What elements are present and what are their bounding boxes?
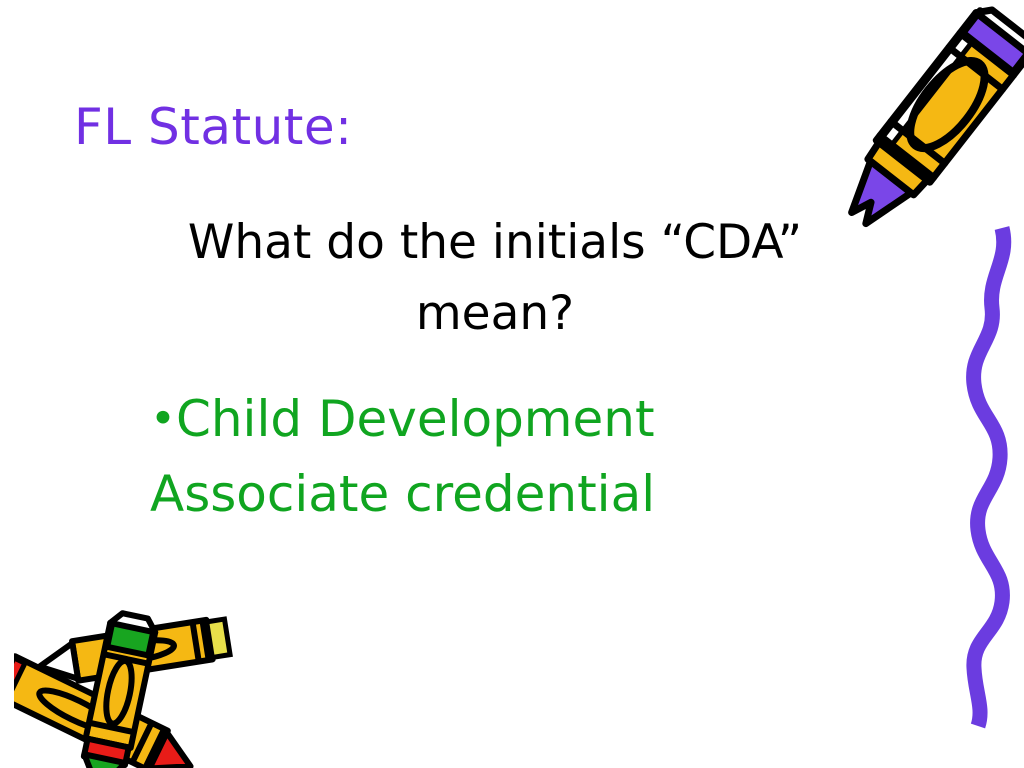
purple-squiggle-icon	[944, 222, 1024, 732]
answer-bullet-block: •Child Development Associate credential	[150, 382, 910, 532]
question-line-2: mean?	[70, 279, 920, 350]
crayon-trio-icon	[14, 596, 244, 768]
slide-canvas: FL Statute: What do the initials “CDA” m…	[0, 0, 1024, 768]
bullet-line-1: •Child Development	[150, 382, 910, 457]
bullet-line-1-label: Child Development	[176, 390, 655, 448]
page-title: FL Statute:	[74, 100, 674, 154]
bullet-marker-icon: •	[150, 393, 176, 444]
bullet-line-2: Associate credential	[150, 457, 910, 532]
question-line-1: What do the initials “CDA”	[70, 208, 920, 279]
question-block: What do the initials “CDA” mean?	[70, 208, 920, 349]
